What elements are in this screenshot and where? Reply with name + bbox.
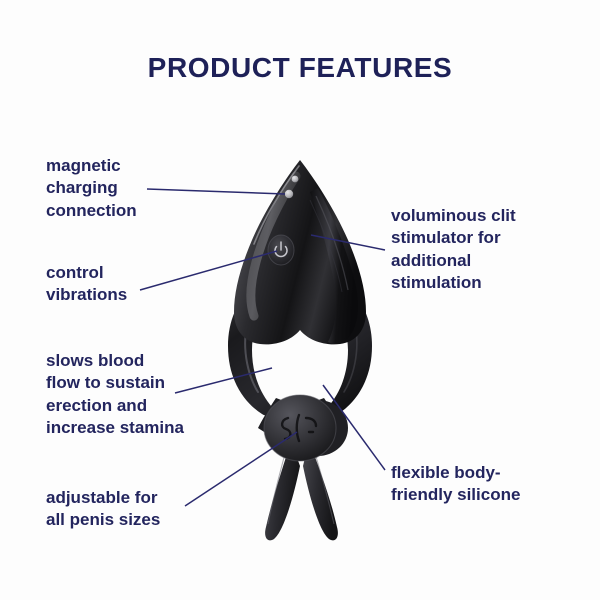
clasp-rim — [264, 395, 336, 461]
fold-crease-outer — [316, 196, 348, 290]
clit-stimulator-head — [234, 160, 366, 344]
clasp-back — [288, 400, 348, 456]
callout-slows-blood-flow: slows blood flow to sustain erection and… — [46, 350, 184, 440]
strap-upper-right — [308, 398, 342, 437]
strap-left — [265, 441, 300, 540]
strap-right-highlight — [314, 450, 334, 524]
magnetic-charging-contacts — [285, 176, 299, 199]
callout-magnetic-charging: magnetic charging connection — [46, 155, 137, 222]
brand-logo-icon — [282, 415, 316, 441]
ring-highlight-left — [245, 330, 258, 392]
product-graphic — [228, 160, 372, 540]
power-symbol-icon — [275, 242, 287, 256]
leader-line-slows — [175, 368, 272, 393]
body-highlight-left — [251, 176, 296, 316]
leader-line-flexible — [323, 385, 385, 470]
fold-crease-inner — [310, 200, 342, 292]
leader-line-control — [140, 251, 277, 290]
body-rim-light — [254, 166, 299, 244]
power-button-recess — [268, 235, 294, 265]
product-features-infographic: PRODUCT FEATURES — [0, 0, 600, 600]
charging-contact-lower — [285, 190, 293, 198]
adjustable-clasp — [264, 395, 348, 461]
strap-right — [303, 441, 338, 540]
page-title: PRODUCT FEATURES — [0, 52, 600, 84]
callout-adjustable-size: adjustable for all penis sizes — [46, 487, 160, 532]
callout-control-vibrations: control vibrations — [46, 262, 127, 307]
stimulator-fold — [310, 188, 358, 344]
callout-voluminous-stimulator: voluminous clit stimulator for additiona… — [391, 205, 516, 295]
strap-upper-left — [258, 398, 292, 437]
cock-ring-loop — [228, 272, 372, 416]
strap-left-highlight — [268, 450, 286, 524]
power-button-ring — [268, 235, 294, 265]
leader-line-magnetic — [147, 189, 285, 194]
stimulator-body — [234, 160, 366, 344]
charging-contact-upper — [292, 176, 299, 183]
power-button — [268, 235, 294, 265]
ring-highlight-right — [344, 330, 357, 392]
adjustable-straps — [265, 441, 338, 540]
leader-lines — [140, 189, 385, 506]
ring-body — [228, 272, 372, 416]
callout-flexible-silicone: flexible body- friendly silicone — [391, 462, 520, 507]
leader-line-adjustable — [185, 432, 297, 506]
clasp-body — [264, 395, 336, 461]
leader-line-voluminous — [311, 235, 385, 250]
